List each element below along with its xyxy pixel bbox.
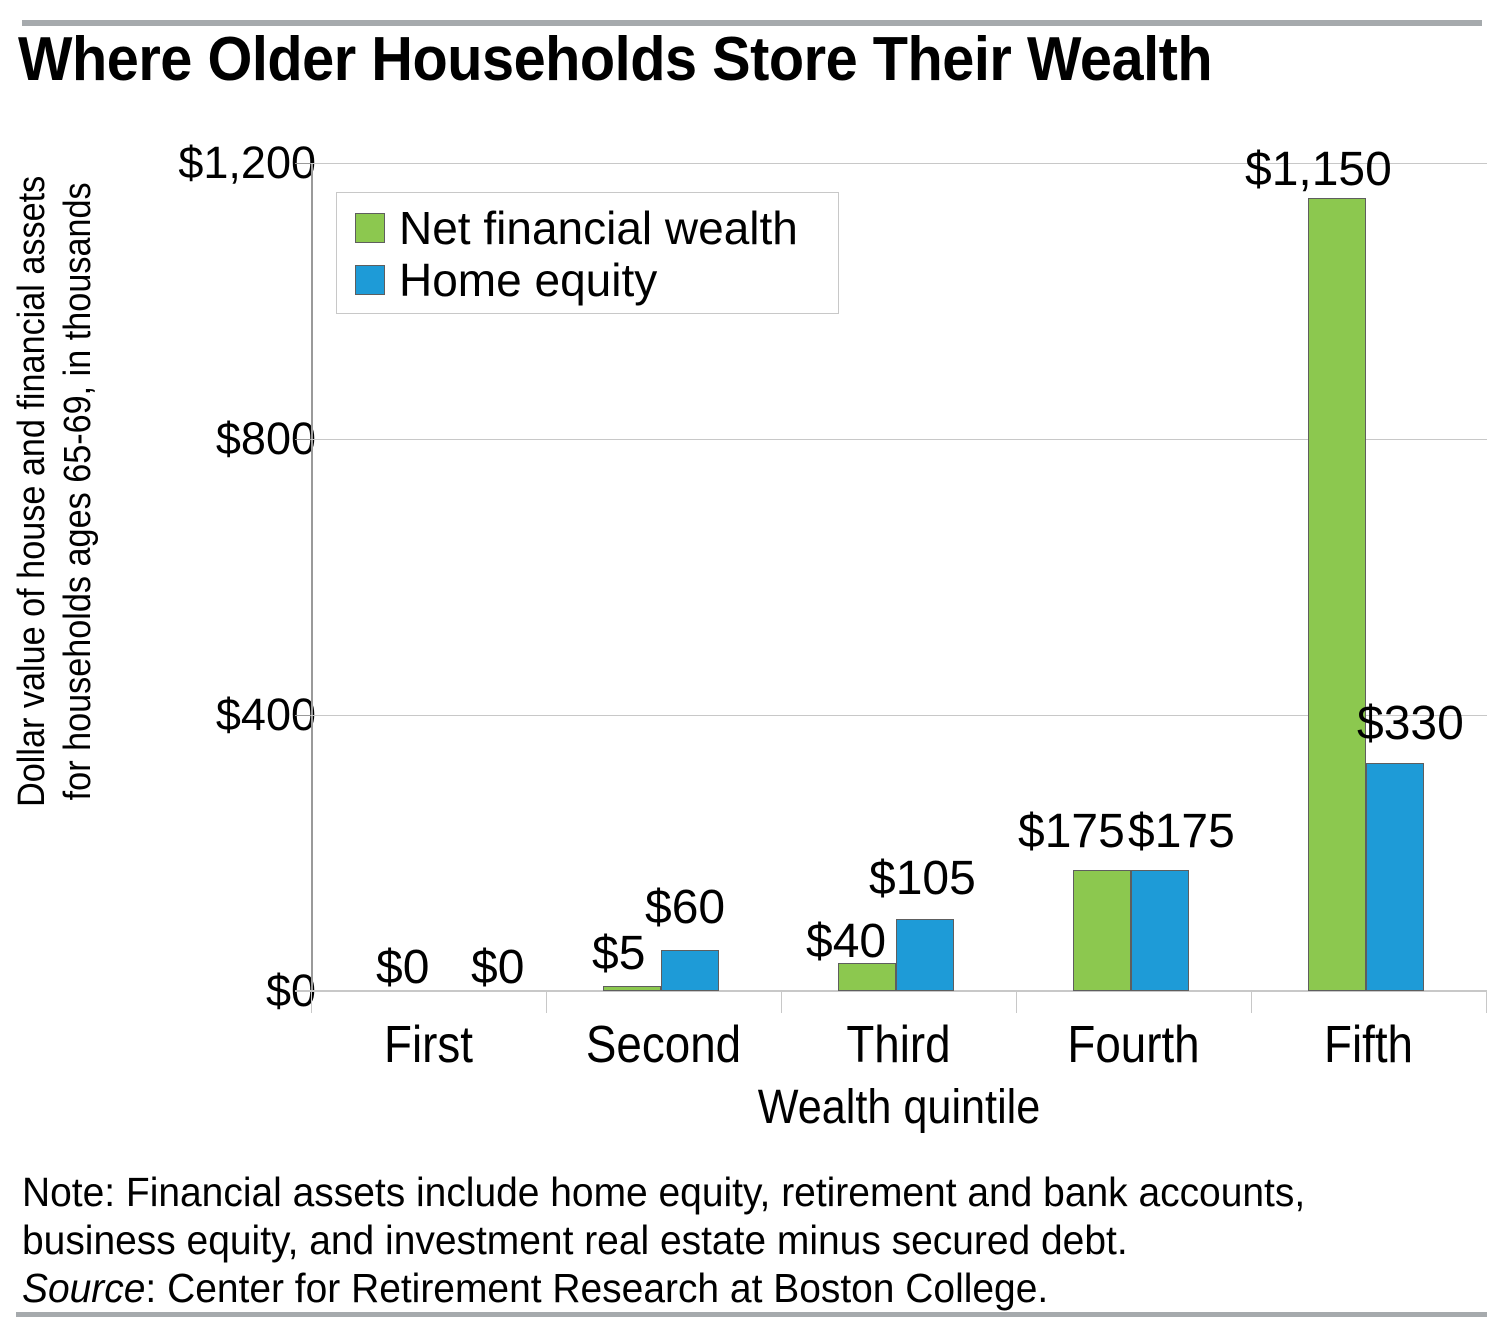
bar-fourth-home-equity: [1131, 870, 1189, 991]
bar-second-net-financial-wealth: [603, 986, 661, 991]
legend-label-home-equity: Home equity: [399, 257, 657, 303]
y-axis-title: Dollar value of house and financial asse…: [9, 51, 101, 931]
bottom-divider-rule: [16, 1312, 1487, 1317]
x-tick-label-second: Second: [560, 1016, 767, 1074]
data-label-fifth-home-equity: $330: [1357, 700, 1464, 748]
data-label-third-home-equity: $105: [869, 855, 976, 903]
data-label-second-home-equity: $60: [645, 884, 725, 932]
legend-swatch-blue-icon: [355, 265, 385, 295]
x-tick-label-first: First: [325, 1016, 532, 1074]
x-tick-label-fourth: Fourth: [1030, 1016, 1237, 1074]
source-text: : Center for Retirement Research at Bost…: [145, 1265, 1048, 1311]
x-category-separator: [546, 991, 547, 1013]
data-label-fourth-net-financial-wealth: $175: [1018, 808, 1125, 856]
chart-figure: Where Older Households Store Their Wealt…: [0, 0, 1503, 1340]
bar-fifth-home-equity: [1366, 763, 1424, 991]
bar-second-home-equity: [661, 950, 719, 991]
source-label: Source: [22, 1265, 145, 1311]
x-category-separator: [1251, 991, 1252, 1013]
legend-item-home-equity[interactable]: Home equity: [355, 255, 838, 305]
legend-swatch-green-icon: [355, 213, 385, 243]
bar-third-home-equity: [896, 919, 954, 991]
x-tick-label-fifth: Fifth: [1265, 1016, 1472, 1074]
y-tick-mark-400: [295, 715, 312, 716]
x-category-separator: [1486, 991, 1487, 1013]
data-label-fourth-home-equity: $175: [1128, 808, 1235, 856]
legend-label-net-financial-wealth: Net financial wealth: [399, 205, 798, 251]
bar-fourth-net-financial-wealth: [1073, 870, 1131, 991]
x-category-separator: [781, 991, 782, 1013]
bar-fifth-net-financial-wealth: [1308, 198, 1366, 991]
y-tick-mark-1200: [295, 163, 312, 164]
data-label-first-net-financial-wealth: $0: [376, 944, 429, 992]
data-label-second-net-financial-wealth: $5: [592, 930, 645, 978]
x-tick-label-third: Third: [795, 1016, 1002, 1074]
data-label-fifth-net-financial-wealth: $1,150: [1245, 146, 1392, 194]
footnote-block: Note: Financial assets include home equi…: [22, 1168, 1409, 1312]
x-axis-title: Wealth quintile: [370, 1080, 1428, 1136]
chart-legend: Net financial wealth Home equity: [336, 192, 839, 314]
data-label-first-home-equity: $0: [471, 944, 524, 992]
page-title: Where Older Households Store Their Wealt…: [18, 24, 1385, 96]
y-axis-title-text: Dollar value of house and financial asse…: [9, 175, 101, 806]
note-line-2: business equity, and investment real est…: [22, 1216, 1409, 1264]
data-label-third-net-financial-wealth: $40: [806, 918, 886, 966]
y-tick-mark-800: [295, 439, 312, 440]
note-line-1: Note: Financial assets include home equi…: [22, 1168, 1409, 1216]
x-category-separator: [1016, 991, 1017, 1013]
x-category-separator: [311, 991, 312, 1013]
source-line: Source: Center for Retirement Research a…: [22, 1264, 1409, 1312]
legend-item-net-financial-wealth[interactable]: Net financial wealth: [355, 203, 838, 253]
